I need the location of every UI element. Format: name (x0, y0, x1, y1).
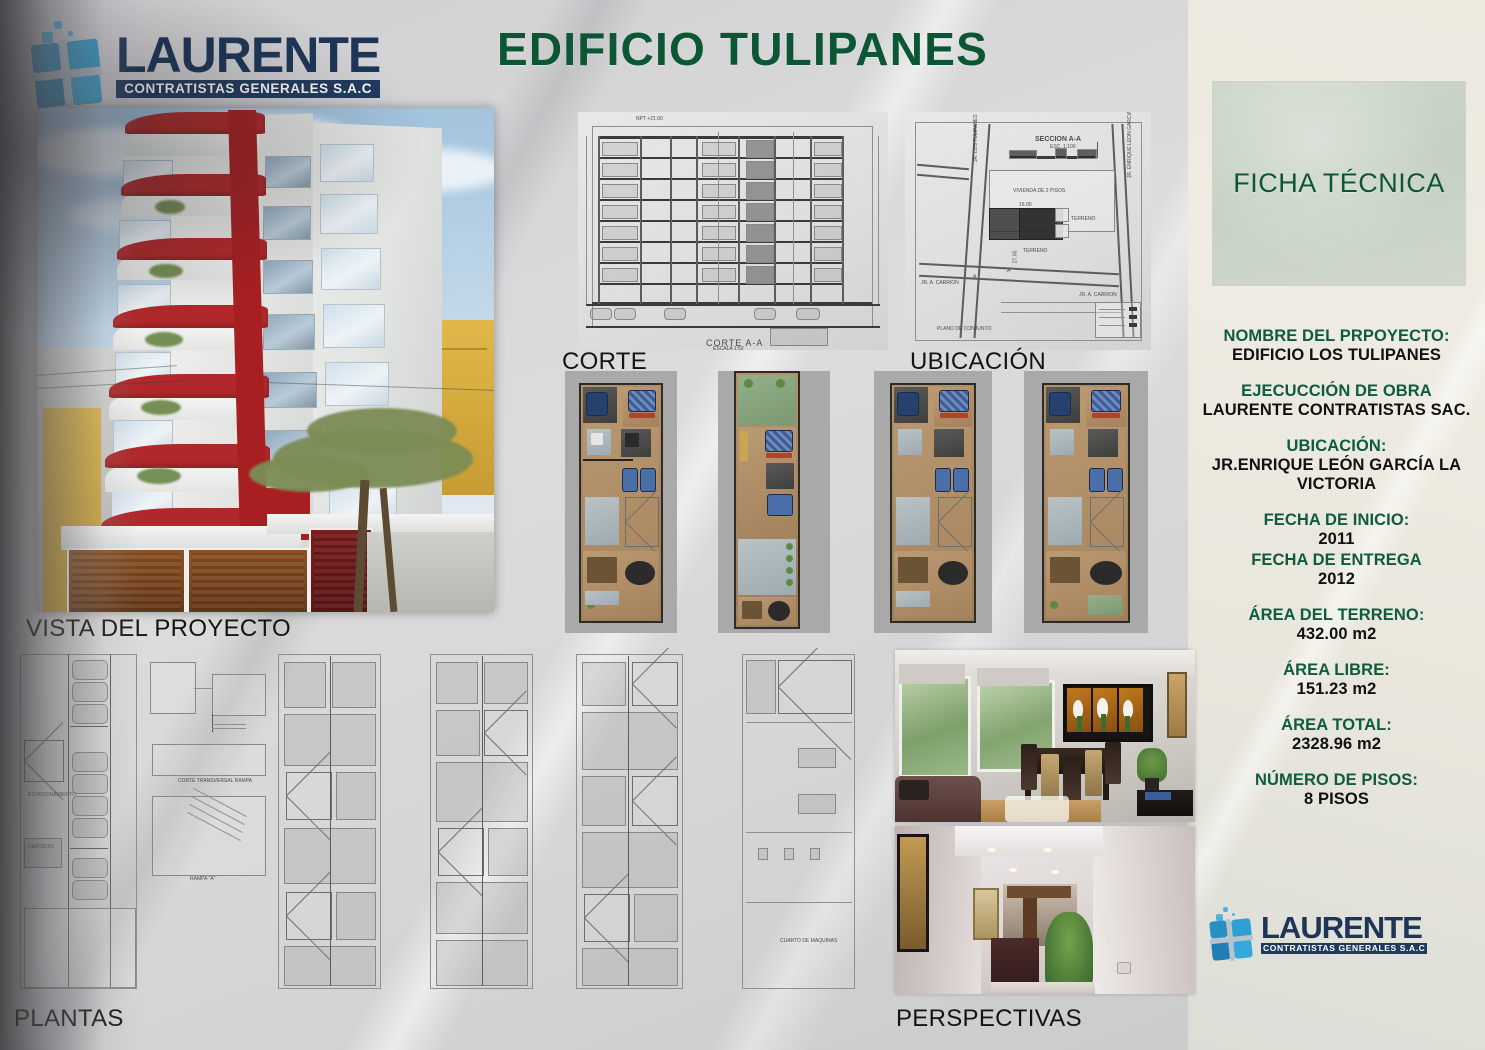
seccion-aa-label: SECCION A-A (1035, 136, 1081, 143)
spec-list: NOMBRE DEL PRPOYECTO: EDIFICIO LOS TULIP… (1190, 327, 1483, 826)
spec-item: NÚMERO DE PISOS: 8 PISOS (1190, 771, 1483, 809)
cuarto-maquinas-label: CUARTO DE MAQUINAS (780, 938, 837, 944)
label-perspectivas: PERSPECTIVAS (896, 1005, 1082, 1033)
plan-typical-a (274, 652, 384, 990)
presentation-board: LAURENTE CONTRATISTAS GENERALES S.A.C ED… (0, 0, 1485, 1050)
plan-typical-b (426, 652, 536, 990)
spec-item: FECHA DE INICIO: 2011 (1190, 511, 1483, 549)
page-title: EDIFICIO TULIPANES (497, 22, 988, 76)
plan-parking: ESTACIONAMIENTO DEPOSITO (16, 652, 140, 990)
logo-wordmark-small: LAURENTE (1261, 912, 1427, 943)
plan-roof: CUARTO DE MAQUINAS (738, 652, 858, 990)
floorplan-render-3 (874, 371, 992, 633)
street-left-lower-label: JR. A. CARRION (921, 280, 959, 286)
logo-wordmark: LAURENTE (116, 30, 380, 80)
dimension-top: 16.00 (1019, 202, 1032, 208)
laurente-mark-icon-small (1205, 905, 1261, 961)
street-bottom-label: JR. A. CARRION (1079, 292, 1117, 298)
spec-item: ÁREA TOTAL: 2328.96 m2 (1190, 716, 1483, 754)
logo-subtitle-small: CONTRATISTAS GENERALES S.A.C (1261, 943, 1427, 955)
spec-item: FECHA DE ENTREGA 2012 (1190, 551, 1483, 589)
ficha-tecnica-panel: FICHA TÉCNICA (1213, 82, 1465, 285)
ficha-tecnica-title: FICHA TÉCNICA (1233, 168, 1445, 199)
corte-scale: ESCALA 1:50 (713, 346, 744, 350)
plano-caption: PLANO DE CONJUNTO (937, 326, 991, 332)
plan-estacionamiento-label: ESTACIONAMIENTO (28, 792, 76, 798)
plan-deposito-label: DEPOSITO (28, 844, 54, 850)
label-vista-del-proyecto: VISTA DEL PROYECTO (26, 615, 291, 643)
logo-subtitle: CONTRATISTAS GENERALES S.A.C (116, 80, 380, 99)
spec-item: EJECUCCIÓN DE OBRA LAURENTE CONTRATISTAS… (1190, 382, 1483, 420)
rampa-label: RAMPA "A" (190, 876, 215, 882)
plan-typical-c (572, 652, 686, 990)
spec-item: ÁREA LIBRE: 151.23 m2 (1190, 661, 1483, 699)
company-logo-top: LAURENTE CONTRATISTAS GENERALES S.A.C (24, 18, 380, 110)
site-plan-ubicacion: SECCION A-A ESC. 1:100 VIVIENDA DE 2 PIS… (905, 112, 1151, 350)
section-drawing-corte: NPT +21.60 CORTE A-A ESCALA 1:50 (578, 112, 888, 350)
laurente-mark-icon (24, 18, 116, 110)
floor-plans-row: ESTACIONAMIENTO DEPOSITO CORTE TRANSVERS… (2, 648, 880, 993)
vivienda-label: VIVIENDA DE 2 PISOS (1013, 188, 1065, 194)
terreno-label-b: TERRENO (1023, 248, 1047, 254)
company-logo-bottom: LAURENTE CONTRATISTAS GENERALES S.A.C (1205, 905, 1427, 961)
dimension-side: 27.00 (1012, 251, 1018, 264)
corte-detalle-label: CORTE TRANSVERSAL RAMPA (178, 778, 252, 784)
spec-item: ÁREA DEL TERRENO: 432.00 m2 (1190, 606, 1483, 644)
spec-item: NOMBRE DEL PRPOYECTO: EDIFICIO LOS TULIP… (1190, 327, 1483, 365)
floorplan-render-4 (1024, 371, 1148, 633)
render-lobby-corridor (895, 826, 1195, 994)
plan-details: CORTE TRANSVERSAL RAMPA RAMPA "A" (150, 662, 268, 912)
floorplan-render-2 (718, 371, 830, 633)
spec-item: UBICACIÓN: JR.ENRIQUE LEÓN GARCÍA LA VIC… (1190, 437, 1483, 494)
street-left-label: JR. LOS TULIPANES (973, 114, 979, 162)
label-plantas: PLANTAS (14, 1005, 124, 1033)
terreno-label-a: TERRENO (1071, 216, 1095, 222)
street-right-label: JR. ENRIQUE LEON GARCIA (1127, 112, 1133, 178)
render-dining-room (895, 650, 1195, 822)
floorplan-render-1 (565, 371, 677, 633)
project-photo (37, 108, 494, 612)
